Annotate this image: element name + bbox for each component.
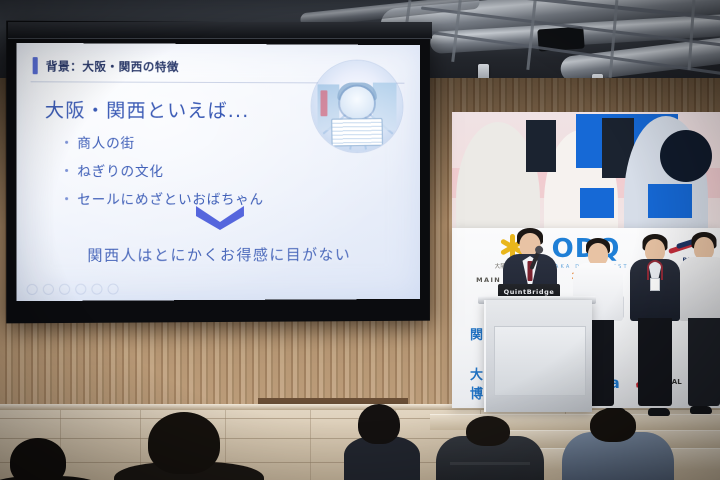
header-accent-bar: [33, 57, 38, 74]
podium: [484, 300, 592, 412]
presenter-fourth: [678, 232, 720, 320]
footer-logo-icon: [91, 284, 102, 295]
illustration-face: [340, 86, 374, 118]
slide-header: 背景：大阪・関西の特徴: [33, 57, 179, 75]
bullet-dot-icon: [65, 168, 68, 171]
footer-logo-icon: [108, 283, 119, 294]
shoe: [648, 408, 670, 416]
shop-banner: [320, 90, 327, 116]
conference-photo-scene: 大阪公立大学 MAIN PARTNER ODQ OSAKA DATA QUEST…: [0, 0, 720, 480]
bullet-text: ねぎりの文化: [77, 160, 163, 180]
footer-logo-icon: [43, 284, 54, 295]
newspaper-flyer: [331, 118, 383, 147]
name-badge: [650, 278, 660, 291]
bullet-dot-icon: [65, 197, 68, 200]
presenter-legs: [688, 318, 720, 406]
podium-plaque-text: QuintBridge: [504, 288, 555, 296]
presentation-slide: 背景：大阪・関西の特徴 大阪・関西といえば... 商人の街 ねぎりの文化 セール…: [16, 43, 420, 301]
slide-header-text: 背景：大阪・関西の特徴: [46, 58, 179, 75]
light-jacket-body: [679, 257, 720, 321]
slide-title: 大阪・関西といえば...: [45, 95, 250, 123]
presenter-third: [628, 234, 682, 320]
slide-conclusion-text: 関西人はとにかくお得感に目がない: [16, 243, 420, 265]
projection-screen-top-bar: [8, 22, 432, 39]
footer-logo-icon: [75, 284, 86, 295]
shoe: [690, 406, 712, 414]
decorative-backdrop-graphic: [452, 112, 720, 234]
bullet-dot-icon: [65, 140, 68, 143]
navy-circle-shape: [660, 130, 712, 182]
footer-logo-icon: [59, 284, 70, 295]
obachan-illustration: [312, 60, 403, 152]
bullet-text: 商人の街: [77, 132, 135, 152]
podium-front-panel: [494, 326, 586, 396]
slide-footer-logos: [27, 283, 119, 295]
footer-logo-icon: [27, 284, 38, 295]
lanyard: [647, 260, 663, 280]
presenter-legs: [638, 318, 672, 406]
bullet-item: 商人の街: [65, 132, 264, 152]
bullet-item: ねぎりの文化: [65, 160, 264, 180]
